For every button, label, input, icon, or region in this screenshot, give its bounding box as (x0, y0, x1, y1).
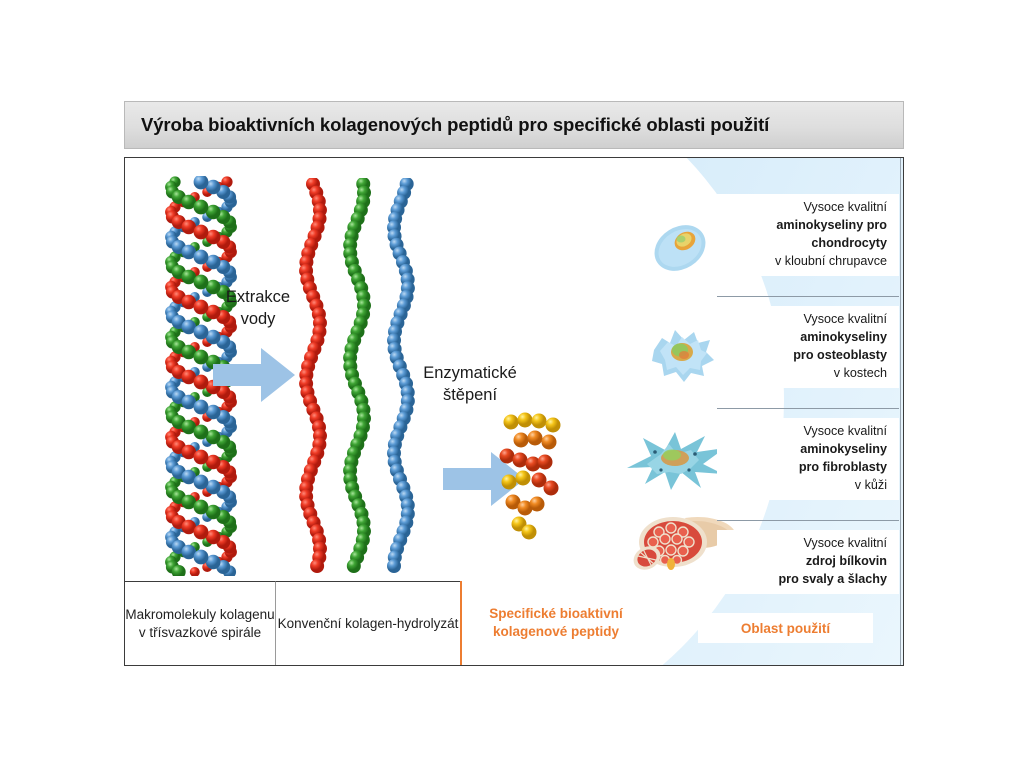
stage-label-bioactive-peptides: Specifické bioaktivní kolagenové peptidy (460, 581, 650, 665)
osteoblast-line-2: aminokyseliny (727, 329, 887, 347)
fibroblast-cell-image (625, 422, 729, 496)
diagram-frame: Výroba bioaktivních kolagenových peptidů… (124, 101, 904, 666)
stage-label-hydrolysate: Konvenční kolagen-hydrolyzát (275, 581, 460, 665)
arrow-label-cleavage: Enzymatické štěpení (405, 362, 535, 407)
fibroblast-line-2: aminokyseliny (727, 441, 887, 459)
arrow-extraction (213, 344, 297, 406)
osteoblast-line-4: v kostech (727, 365, 887, 383)
cleavage-line-2: štěpení (405, 384, 535, 406)
extraction-line-1: Extrakce (215, 286, 301, 308)
osteoblast-line-1: Vysoce kvalitní (727, 311, 887, 329)
application-box-chondrocyte[interactable]: Vysoce kvalitní aminokyseliny pro chondr… (717, 194, 899, 276)
divider-2 (717, 408, 899, 409)
muscle-line-1: Vysoce kvalitní (727, 535, 887, 553)
chondrocyte-line-3: chondrocyty (727, 235, 887, 253)
fibroblast-line-3: pro fibroblasty (727, 459, 887, 477)
page-title: Výroba bioaktivních kolagenových peptidů… (125, 114, 769, 136)
divider-3 (717, 520, 899, 521)
divider-1 (717, 296, 899, 297)
stage-label-macromolecules: Makromolekuly kolagenu v třísvazkové spi… (125, 581, 275, 665)
application-box-fibroblast[interactable]: Vysoce kvalitní aminokyseliny pro fibrob… (717, 418, 899, 500)
osteoblast-line-3: pro osteoblasty (727, 347, 887, 365)
extraction-line-2: vody (215, 308, 301, 330)
diagram-canvas: Extrakce vody Enzymatické štěpení (124, 157, 904, 666)
fibroblast-line-4: v kůži (727, 477, 887, 495)
arrow-label-extraction: Extrakce vody (215, 286, 301, 331)
chondrocyte-line-4: v kloubní chrupavce (727, 253, 887, 271)
application-area-header: Oblast použití (698, 613, 873, 643)
chondrocyte-cell-image (644, 210, 716, 282)
muscle-line-2: zdroj bílkovin (727, 553, 887, 571)
cleavage-line-1: Enzymatické (405, 362, 535, 384)
chondrocyte-line-1: Vysoce kvalitní (727, 199, 887, 217)
osteoblast-cell-image (644, 316, 722, 392)
title-bar: Výroba bioaktivních kolagenových peptidů… (124, 101, 904, 149)
chondrocyte-line-2: aminokyseliny pro (727, 217, 887, 235)
application-box-osteoblast[interactable]: Vysoce kvalitní aminokyseliny pro osteob… (717, 306, 899, 388)
bioactive-peptides-graphic (483, 408, 593, 548)
fibroblast-line-1: Vysoce kvalitní (727, 423, 887, 441)
